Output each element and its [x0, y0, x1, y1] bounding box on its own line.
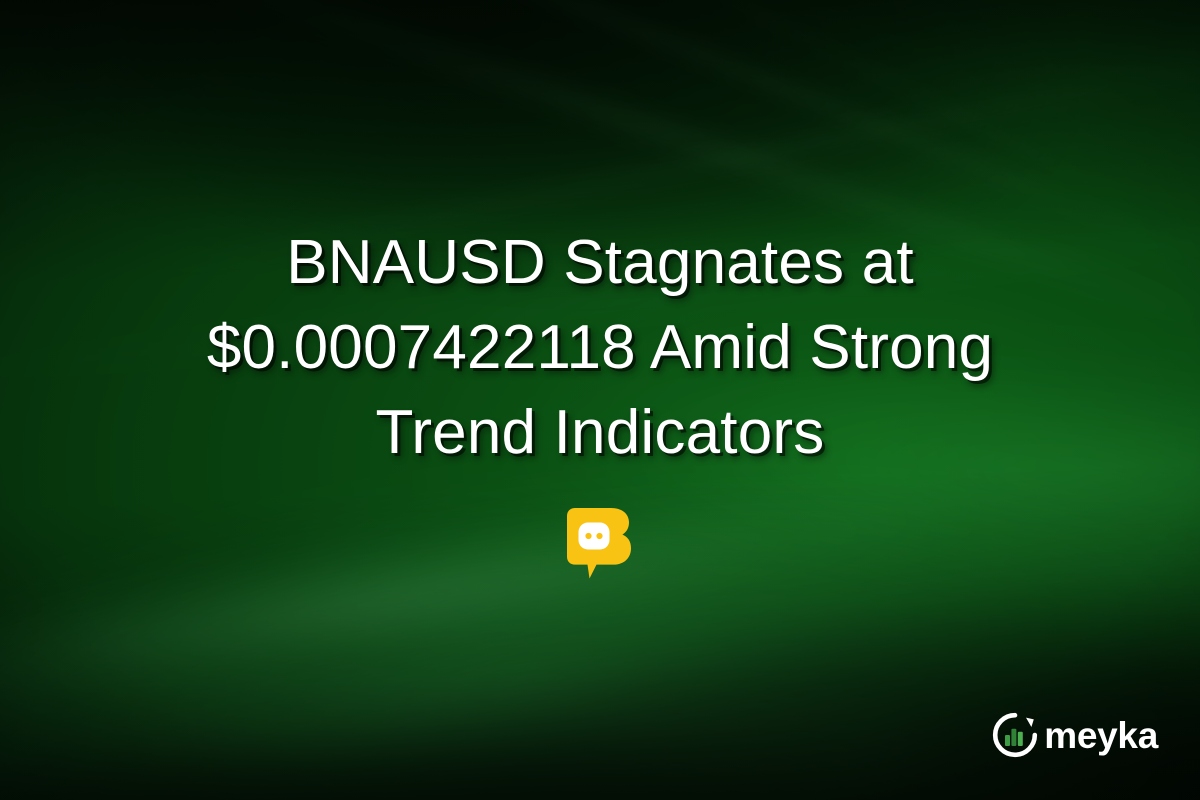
- chat-bot-avatar-icon: [563, 505, 637, 585]
- brand-logo: meyka: [992, 712, 1158, 758]
- meyka-circle-barchart-logo: [992, 712, 1038, 758]
- page-title: BNAUSD Stagnates at $0.0007422118 Amid S…: [60, 220, 1140, 475]
- promo-card: BNAUSD Stagnates at $0.0007422118 Amid S…: [0, 0, 1200, 800]
- brand-name: meyka: [1044, 717, 1158, 754]
